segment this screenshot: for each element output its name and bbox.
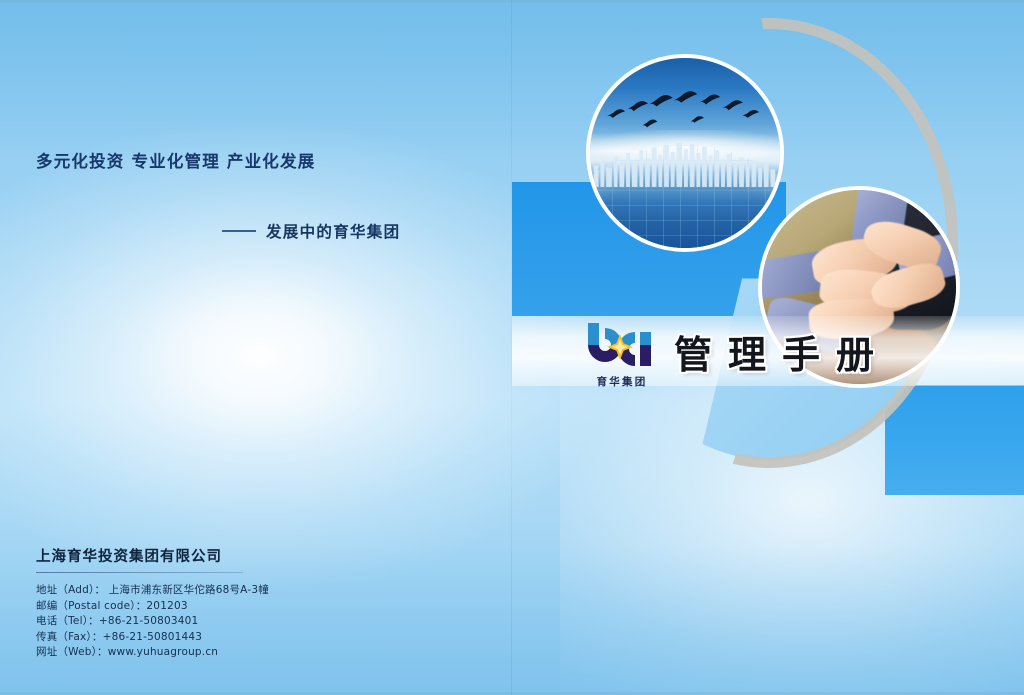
company-info-block: 上海育华投资集团有限公司 地址（Add）： 上海市浦东新区华佗路68号A-3幢 … xyxy=(36,545,476,661)
flying-birds-icon xyxy=(590,58,780,248)
company-divider xyxy=(36,572,243,573)
contact-fax: 传真（Fax）：+86-21-50801443 xyxy=(36,630,476,646)
sub-slogan: 发展中的育华集团 xyxy=(222,220,400,242)
contact-address: 地址（Add）： 上海市浦东新区华佗路68号A-3幢 xyxy=(36,583,476,599)
company-logo: 育华集团 xyxy=(576,321,668,393)
birds-over-city-globe-image xyxy=(586,54,784,252)
page-title: 管理手册 xyxy=(674,324,890,379)
company-name: 上海育华投资集团有限公司 xyxy=(36,545,476,566)
em-dash-rule xyxy=(222,230,256,232)
logo-wordmark: 育华集团 xyxy=(576,374,668,389)
front-cover-panel: 育华集团 管理手册 xyxy=(512,0,1024,695)
slogan-text: 多元化投资 专业化管理 产业化发展 xyxy=(36,148,315,172)
contact-website[interactable]: 网址（Web）：www.yuhuagroup.cn xyxy=(36,645,476,661)
sub-slogan-text: 发展中的育华集团 xyxy=(266,220,400,242)
center-fold-line xyxy=(511,0,512,695)
contact-postal-code: 邮编（Postal code）：201203 xyxy=(36,599,476,615)
accent-block-right xyxy=(885,385,1024,495)
contact-telephone: 电话（Tel）：+86-21-50803401 xyxy=(36,614,476,630)
title-band: 育华集团 管理手册 xyxy=(512,316,1024,386)
contact-list: 地址（Add）： 上海市浦东新区华佗路68号A-3幢 邮编（Postal cod… xyxy=(36,583,476,661)
back-cover-panel: 多元化投资 专业化管理 产业化发展 发展中的育华集团 上海育华投资集团有限公司 … xyxy=(0,0,512,695)
yuhua-group-logo-icon xyxy=(584,321,656,373)
brochure-cover-spread: 多元化投资 专业化管理 产业化发展 发展中的育华集团 上海育华投资集团有限公司 … xyxy=(0,0,1024,695)
